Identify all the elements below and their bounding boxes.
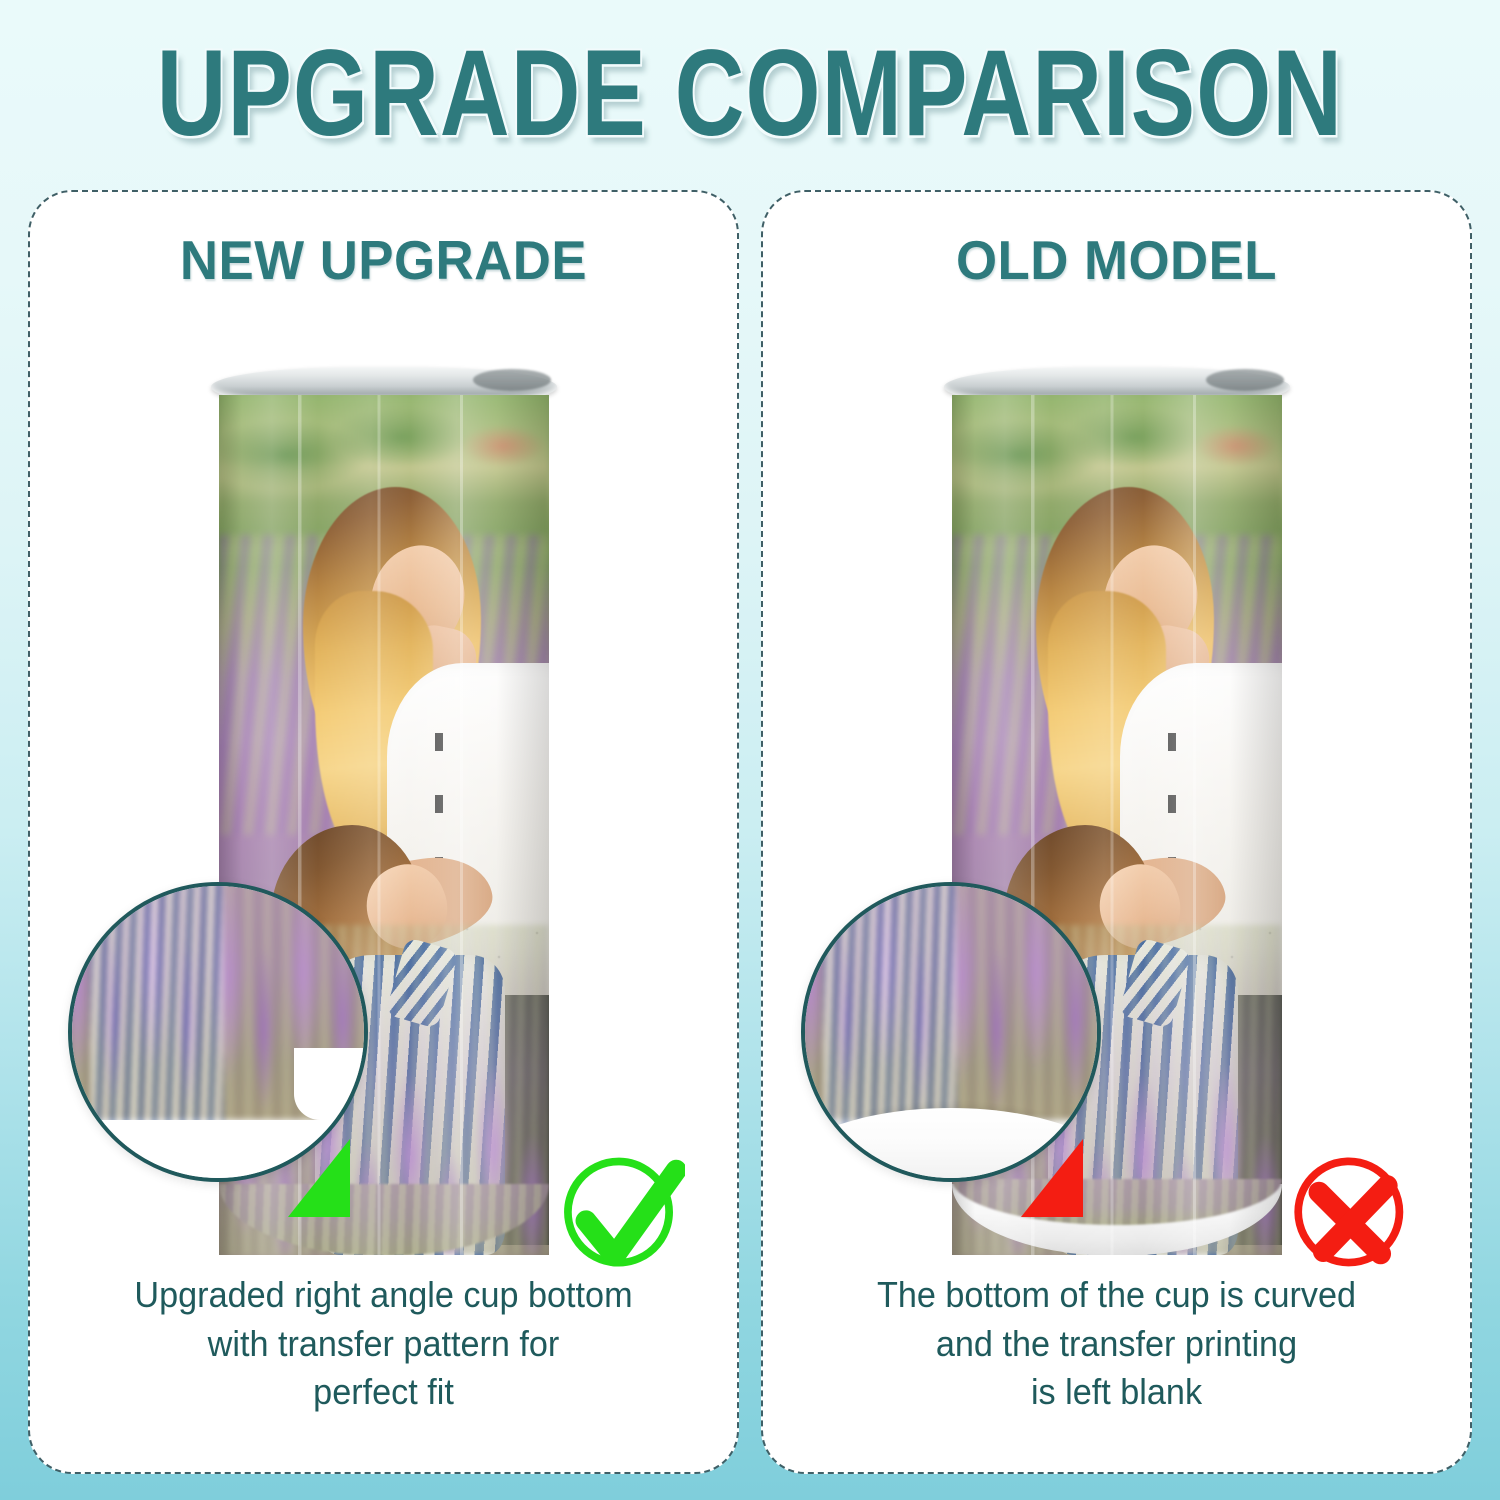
cross-mark-icon [1286,1157,1418,1289]
check-mark-icon [553,1157,685,1289]
magnifier-content-new [72,886,364,1178]
caption-new-upgrade: Upgraded right angle cup bottom with tra… [48,1271,720,1416]
caption-old-model: The bottom of the cup is curved and the … [781,1271,1453,1416]
magnifier-stripe-detail [823,882,957,1131]
magnifier-bubble-old [801,882,1101,1182]
comparison-panels: NEW UPGRADE [28,190,1472,1474]
verdict-new-upgrade [553,1157,685,1289]
magnifier-bubble-new [68,882,368,1182]
page-title: UPGRADE COMPARISON [157,24,1343,164]
magnifier-right-angle-edge [95,921,317,1137]
panel-heading-old-model: OLD MODEL [777,228,1456,292]
page-header: UPGRADE COMPARISON [0,34,1500,154]
verdict-old-model [1286,1157,1418,1289]
panel-new-upgrade: NEW UPGRADE [28,190,739,1474]
panel-heading-new-upgrade: NEW UPGRADE [44,228,723,292]
magnifier-white-base-new [72,1120,364,1178]
panel-old-model: OLD MODEL [761,190,1472,1474]
magnifier-content-old [805,886,1097,1178]
